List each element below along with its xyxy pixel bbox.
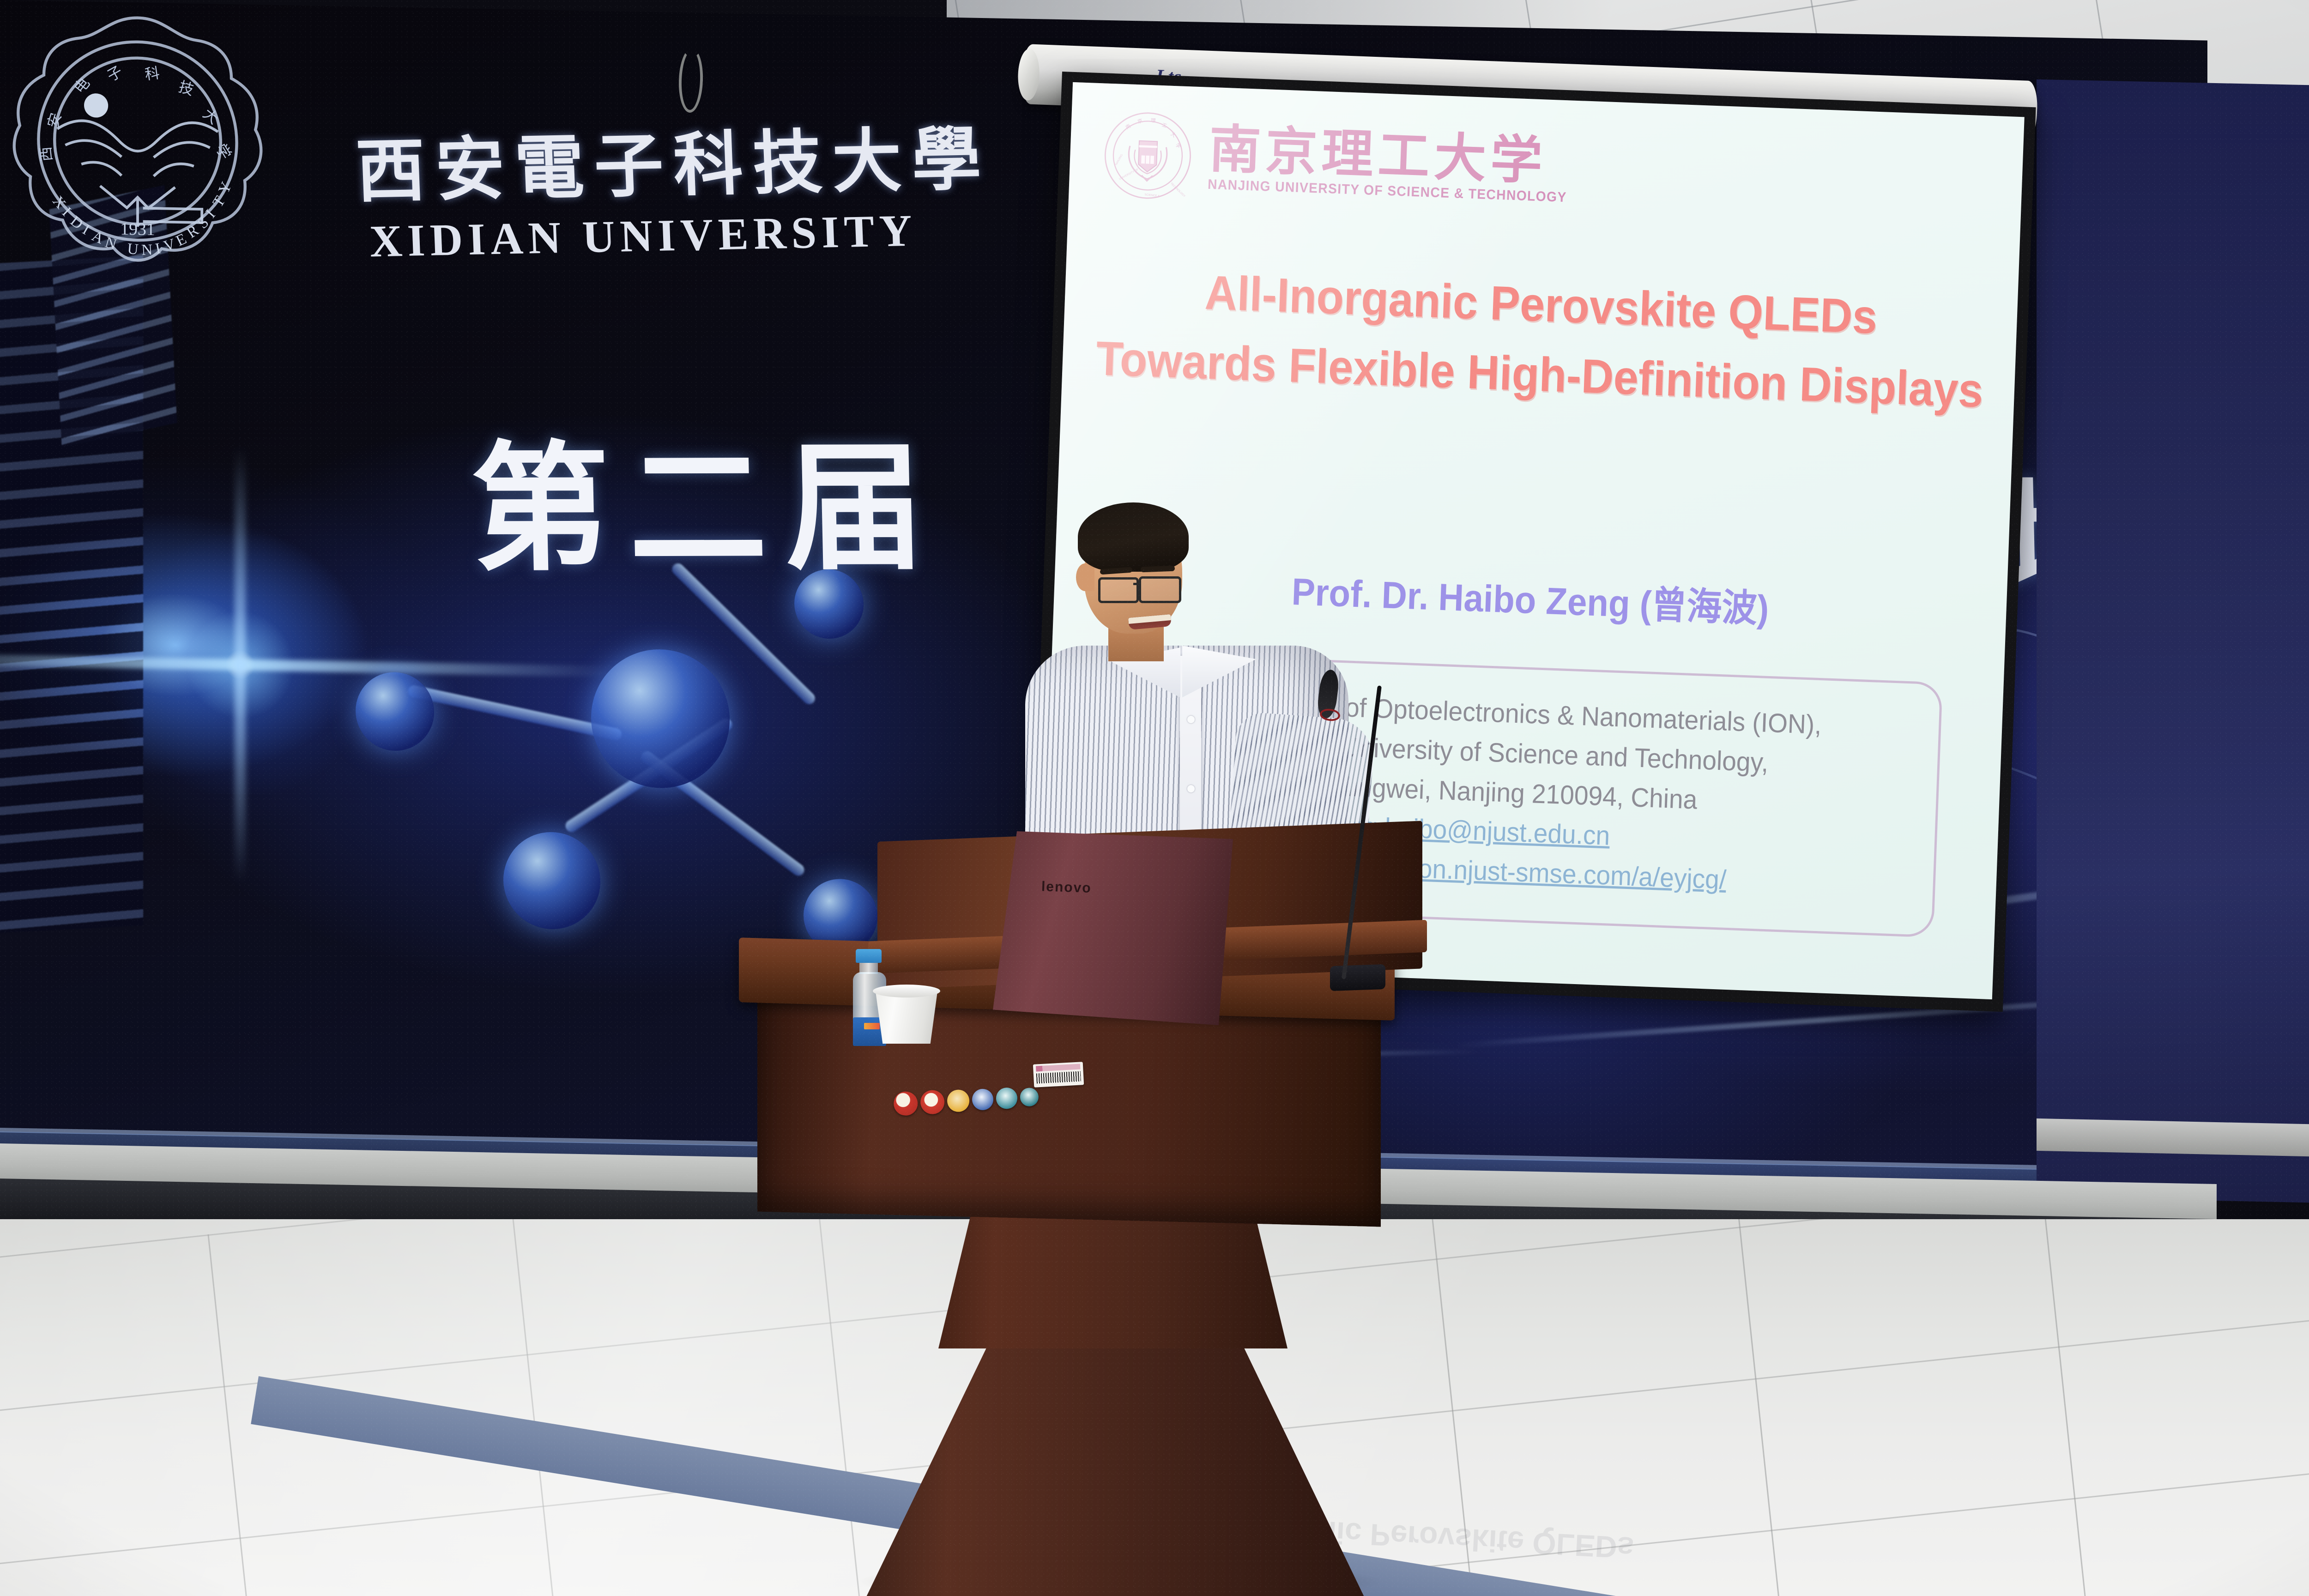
badge-5 xyxy=(996,1087,1018,1109)
svg-text:NANJING: NANJING xyxy=(1115,154,1124,166)
laptop[interactable] xyxy=(993,831,1233,1025)
svg-text:大: 大 xyxy=(1169,131,1177,139)
slide-title: All-Inorganic Perovskite QLEDs Towards F… xyxy=(1095,254,1985,426)
svg-text:电: 电 xyxy=(71,74,94,97)
svg-text:工: 工 xyxy=(1161,122,1167,129)
svg-text:西: 西 xyxy=(36,146,55,162)
speaker-ear xyxy=(1076,563,1094,591)
svg-text:Y: Y xyxy=(215,179,236,197)
svg-text:SCIENCE &: SCIENCE & xyxy=(1144,193,1160,198)
svg-text:子: 子 xyxy=(104,62,126,85)
speaker-hair xyxy=(1078,502,1189,572)
bottle-cap[interactable] xyxy=(856,949,882,963)
njust-wordmark: 南京理工大学 NANJING UNIVERSITY OF SCIENCE & T… xyxy=(1208,123,1592,206)
bottle-label-mark xyxy=(864,1023,880,1029)
glasses-bridge xyxy=(1133,583,1141,585)
badge-2 xyxy=(920,1089,945,1115)
svg-text:技: 技 xyxy=(177,78,196,99)
banner-event-title-left: 第二届 xyxy=(469,396,944,598)
svg-text:学: 学 xyxy=(212,141,235,163)
svg-text:UNIVERSITY OF: UNIVERSITY OF xyxy=(1119,168,1139,181)
glasses-lens-right xyxy=(1139,576,1181,603)
photo-scene: 1931 电 子 科 技 大 学 安 西 X I D I A N xyxy=(0,0,2309,1596)
slide-org-logo: 南 京 理 工 大 学 NANJING UNIVERSITY OF SCIENC… xyxy=(1100,101,1603,225)
glasses-lens-left xyxy=(1098,577,1139,603)
svg-text:理: 理 xyxy=(1151,118,1156,124)
speaker-eyebrow-right xyxy=(1141,566,1175,573)
badge-4 xyxy=(972,1088,994,1111)
seal-year: 1931 xyxy=(120,219,155,239)
shirt-button-1 xyxy=(1187,716,1195,723)
microphone-base xyxy=(1330,964,1385,991)
podium-asset-barcode-label xyxy=(1033,1062,1084,1088)
barcode-lines xyxy=(1036,1071,1081,1083)
badge-1 xyxy=(893,1091,919,1116)
njust-seal-icon: 南 京 理 工 大 学 NANJING UNIVERSITY OF SCIENC… xyxy=(1101,109,1195,202)
badge-3 xyxy=(947,1089,970,1112)
paper-cup-rim xyxy=(873,985,940,997)
svg-text:科: 科 xyxy=(144,64,161,84)
banner-university-name-cn: 西安電子科技大學 xyxy=(354,103,992,216)
svg-text:京: 京 xyxy=(1136,118,1143,125)
bottle-neck xyxy=(859,962,878,974)
xidian-university-seal: 1931 电 子 科 技 大 学 安 西 X I D I A N xyxy=(4,5,272,278)
banner-university-name-en: XIDIAN UNIVERSITY xyxy=(369,205,918,268)
svg-text:N: N xyxy=(141,241,153,259)
laptop-brand-label: lenovo xyxy=(1041,879,1092,896)
barcode-label-header xyxy=(1036,1064,1080,1072)
shirt-button-2 xyxy=(1187,785,1195,792)
svg-text:U: U xyxy=(127,240,139,258)
right-wall-panel xyxy=(2037,79,2309,1204)
badge-6 xyxy=(1020,1088,1039,1107)
